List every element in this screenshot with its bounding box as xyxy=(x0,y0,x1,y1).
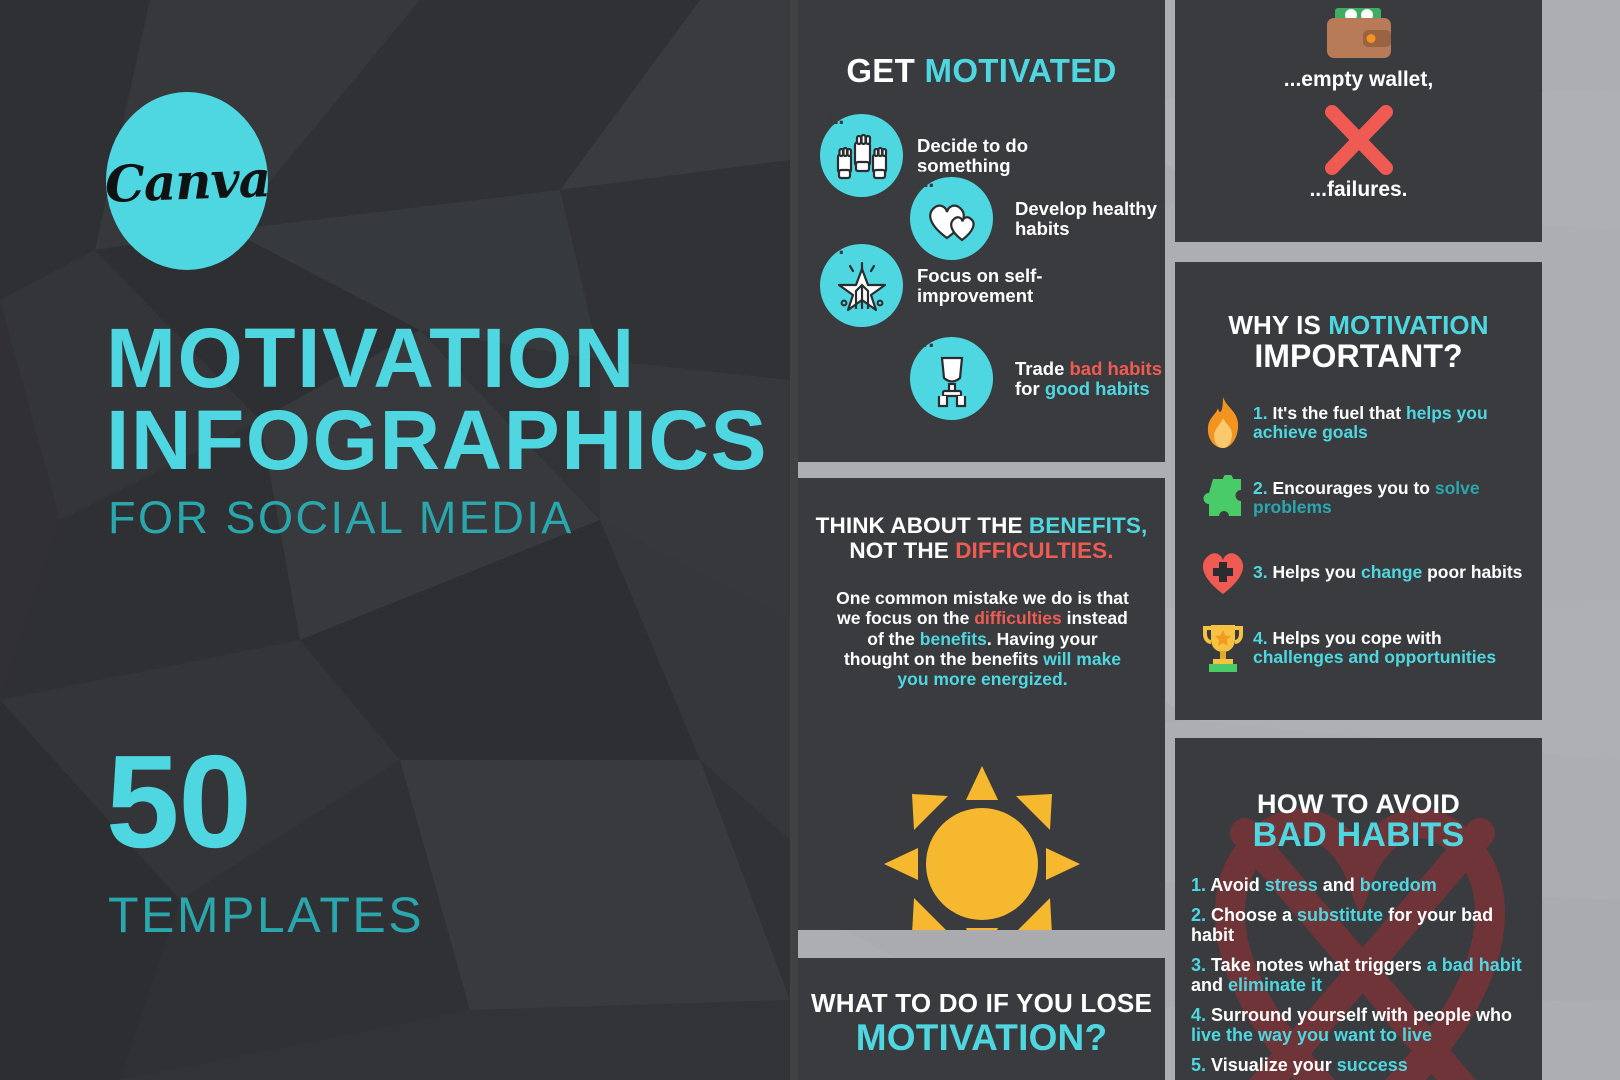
red-cross-mark-icon xyxy=(1318,100,1400,180)
card-avoid-title: HOW TO AVOID BAD HABITS xyxy=(1175,790,1542,853)
canva-logo-circle: Canva xyxy=(106,92,268,270)
why-title-w1: WHY IS xyxy=(1228,310,1328,340)
benefits-title-w2: NOT THE xyxy=(849,538,955,563)
step-bubble-4: 4. xyxy=(910,337,993,420)
step-number-4: 4. xyxy=(916,327,934,353)
benefits-title-w1: THINK ABOUT THE xyxy=(816,513,1029,538)
card-benefits-body: One common mistake we do is that we focu… xyxy=(836,588,1129,689)
lose-title-line2: MOTIVATION? xyxy=(856,1017,1108,1058)
avoid-item-1: 1. Avoid stress and boredom xyxy=(1191,876,1531,895)
why-title-w2: IMPORTANT? xyxy=(1254,338,1462,374)
why-item-4-text: 4. Helps you cope with challenges and op… xyxy=(1253,629,1527,668)
card-get-motivated[interactable]: GET MOTIVATED 1. xyxy=(798,0,1165,462)
step-text-3: Focus on self-improvement xyxy=(917,266,1087,306)
card-benefits-title: THINK ABOUT THE BENEFITS, NOT THE DIFFIC… xyxy=(810,513,1153,563)
fire-icon xyxy=(1193,396,1253,450)
why-item-1: 1. It's the fuel that helps you achieve … xyxy=(1193,396,1527,450)
step-number-1: 1. xyxy=(826,104,844,130)
raised-fists-icon xyxy=(834,132,890,182)
avoid-items-list: 1. Avoid stress and boredom 2. Choose a … xyxy=(1191,876,1531,1080)
avoid-item-3: 3. Take notes what triggers a bad habit … xyxy=(1191,956,1531,995)
card-think-benefits[interactable]: THINK ABOUT THE BENEFITS, NOT THE DIFFIC… xyxy=(798,478,1165,930)
card-lose-motivation-title: WHAT TO DO IF YOU LOSE MOTIVATION? xyxy=(798,990,1165,1057)
why-title-c1: MOTIVATION xyxy=(1328,310,1488,340)
step-bubble-3: 3. xyxy=(820,244,903,327)
template-count: 50 xyxy=(106,736,251,868)
why-item-4: 4. Helps you cope with challenges and op… xyxy=(1193,621,1527,675)
wallet-caption: ...empty wallet, xyxy=(1175,68,1542,92)
benefits-title-c1: BENEFITS, xyxy=(1029,513,1147,538)
trophy-in-hands-icon xyxy=(925,352,979,408)
canva-logo-text: Canva xyxy=(104,149,271,214)
step-row-3: 3. xyxy=(820,244,1087,327)
card-avoid-bad-habits[interactable]: HOW TO AVOID BAD HABITS 1. Avoid stress … xyxy=(1175,738,1542,1080)
why-items-list: 1. It's the fuel that helps you achieve … xyxy=(1193,396,1527,696)
card-lose-motivation[interactable]: WHAT TO DO IF YOU LOSE MOTIVATION? xyxy=(798,958,1165,1080)
trophy-icon xyxy=(1193,621,1253,675)
step-text-2: Develop healthy habits xyxy=(1015,199,1160,239)
why-item-1-text: 1. It's the fuel that helps you achieve … xyxy=(1253,404,1527,443)
wallet-icon xyxy=(1323,6,1395,68)
why-item-3: 3. Helps you change poor habits xyxy=(1193,546,1527,600)
page-title-line2: INFOGRAPHICS xyxy=(106,400,768,481)
step-number-2: 2. xyxy=(916,167,934,193)
why-item-2: 2. Encourages you to solve problems xyxy=(1193,471,1527,525)
sun-icon xyxy=(884,766,1080,930)
lose-title-line1: WHAT TO DO IF YOU LOSE xyxy=(811,988,1152,1018)
avoid-title-line1: HOW TO AVOID xyxy=(1257,789,1460,819)
template-mosaic: GET MOTIVATED 1. xyxy=(790,0,1620,1080)
heart-with-cross-icon xyxy=(1193,551,1253,595)
title-part-white: GET xyxy=(846,52,915,89)
step-text-1: Decide to do something xyxy=(917,136,1112,176)
why-item-2-text: 2. Encourages you to solve problems xyxy=(1253,479,1527,518)
card-get-motivated-title: GET MOTIVATED xyxy=(798,52,1165,90)
avoid-title-line2: BAD HABITS xyxy=(1253,816,1465,854)
hero-panel: Canva MOTIVATION INFOGRAPHICS FOR SOCIAL… xyxy=(0,0,790,1080)
avoid-item-2: 2. Choose a substitute for your bad habi… xyxy=(1191,906,1531,945)
two-hearts-icon xyxy=(925,198,979,242)
card-why-title: WHY IS MOTIVATION IMPORTANT? xyxy=(1175,312,1542,373)
failures-caption: ...failures. xyxy=(1175,178,1542,202)
card-why-motivation-important[interactable]: WHY IS MOTIVATION IMPORTANT? 1. It's the… xyxy=(1175,262,1542,720)
puzzle-piece-icon xyxy=(1193,475,1253,521)
infographic-preview-stage: Canva MOTIVATION INFOGRAPHICS FOR SOCIAL… xyxy=(0,0,1620,1080)
page-subtitle: FOR SOCIAL MEDIA xyxy=(108,492,574,544)
card-empty-wallet-failures[interactable]: ...empty wallet, ...failures. xyxy=(1175,0,1542,242)
why-item-3-text: 3. Helps you change poor habits xyxy=(1253,563,1522,582)
step-number-3: 3. xyxy=(826,234,844,260)
step-bubble-1: 1. xyxy=(820,114,903,197)
template-count-label: TEMPLATES xyxy=(108,886,424,944)
shooting-star-icon xyxy=(834,261,890,313)
title-part-cyan: MOTIVATED xyxy=(925,52,1117,89)
benefits-title-r2: DIFFICULTIES. xyxy=(955,538,1113,563)
page-title-line1: MOTIVATION xyxy=(106,318,636,399)
step-text-4: Trade bad habits for good habits xyxy=(1015,359,1165,399)
avoid-item-4: 4. Surround yourself with people who liv… xyxy=(1191,1006,1531,1045)
avoid-item-5: 5. Visualize your success xyxy=(1191,1056,1531,1075)
step-row-4: 4. Trade bad habits for good habits xyxy=(910,337,1165,420)
